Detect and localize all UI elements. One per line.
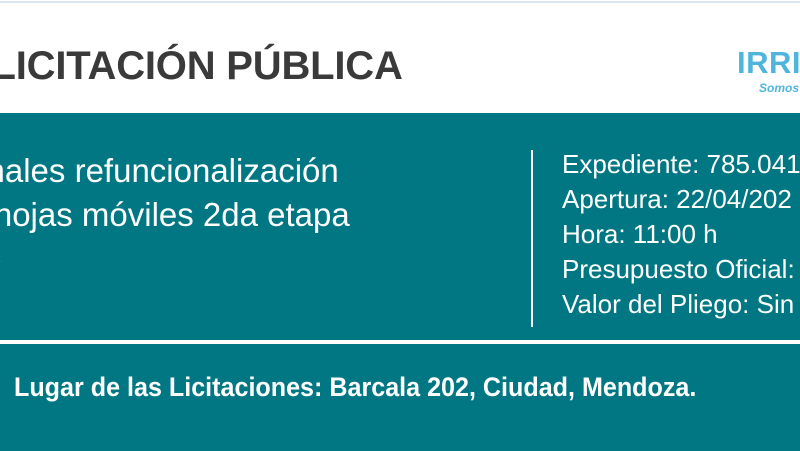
tender-details-column: Expediente: 785.041 Apertura: 22/04/202 … <box>562 113 800 340</box>
tender-info-panel: Marginales refuncionalización rtas y hoj… <box>0 113 800 340</box>
irrigacion-logo[interactable]: IRRIG Somos a <box>737 47 800 95</box>
detail-presupuesto-oficial: Presupuesto Oficial: $ <box>562 252 800 287</box>
header-band: DO A LICITACIÓN PÚBLICA IRRIG Somos a <box>0 3 800 113</box>
tender-details-list: Expediente: 785.041 Apertura: 22/04/202 … <box>562 147 800 322</box>
detail-expediente: Expediente: 785.041 <box>562 147 800 182</box>
page-title-bold: LICITACIÓN PÚBLICA <box>0 44 403 88</box>
tender-work-lines: Marginales refuncionalización rtas y hoj… <box>0 149 350 281</box>
tender-work-column: Marginales refuncionalización rtas y hoj… <box>0 113 525 340</box>
detail-apertura: Apertura: 22/04/202 <box>562 182 800 217</box>
page-title: DO A LICITACIÓN PÚBLICA <box>0 43 403 89</box>
tender-work-line-3: mante <box>0 237 350 281</box>
location-band: Lugar de las Licitaciones: Barcala 202, … <box>0 344 800 451</box>
column-divider <box>531 150 533 327</box>
logo-tagline: Somos a <box>759 81 800 95</box>
tender-work-line-2: rtas y hojas móviles 2da etapa <box>0 193 350 237</box>
detail-hora: Hora: 11:00 h <box>562 217 800 252</box>
location-text: Lugar de las Licitaciones: Barcala 202, … <box>14 370 696 404</box>
tender-work-line-1: Marginales refuncionalización <box>0 149 350 193</box>
logo-wordmark: IRRIG <box>737 47 800 79</box>
detail-valor-pliego: Valor del Pliego: Sin c <box>562 287 800 322</box>
